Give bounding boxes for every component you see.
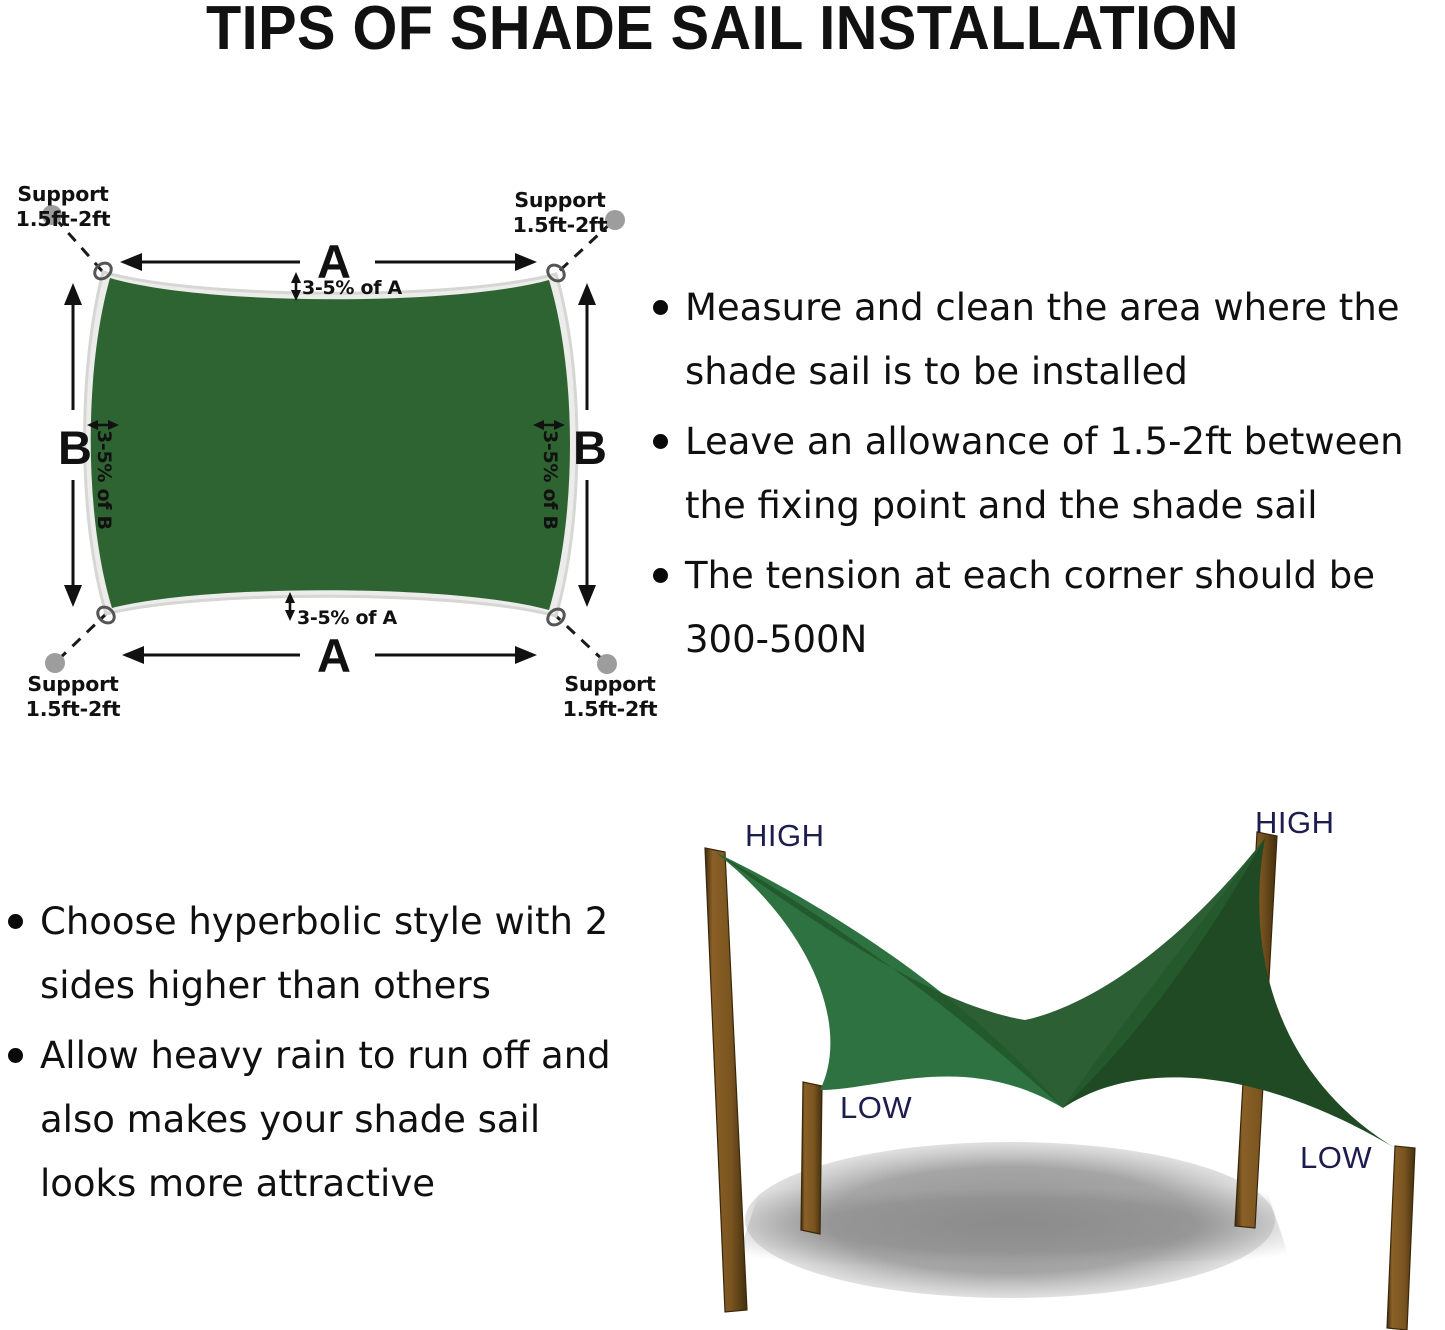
post-low-right — [1387, 1146, 1415, 1330]
list-item: Leave an allowance of 1.5-2ft between th… — [645, 410, 1445, 538]
list-item-text: The tension at each corner should be 300… — [685, 554, 1375, 661]
dimension-label-a-bottom: A — [317, 632, 351, 679]
hyperbolic-sail-diagram — [665, 790, 1445, 1330]
label-low-left: LOW — [840, 1090, 912, 1126]
curvature-label-top: 3-5% of A — [302, 277, 402, 299]
bullet-dot-icon — [8, 914, 23, 929]
list-item: Allow heavy rain to run off and also mak… — [0, 1024, 620, 1216]
support-label-top-right: Support 1.5ft-2ft — [505, 188, 615, 238]
installation-tips-right-list: Measure and clean the area where the sha… — [645, 276, 1445, 678]
bullet-dot-icon — [653, 568, 668, 583]
curvature-label-left: 3-5% of B — [93, 430, 115, 530]
list-item: Measure and clean the area where the sha… — [645, 276, 1445, 404]
sail-panel-left — [715, 852, 1063, 1108]
list-item-text: Leave an allowance of 1.5-2ft between th… — [685, 420, 1404, 527]
support-label-top-left: Support 1.5ft-2ft — [8, 182, 118, 232]
support-label-bottom-right: Support 1.5ft-2ft — [555, 672, 665, 722]
list-item: The tension at each corner should be 300… — [645, 544, 1445, 672]
bullet-dot-icon — [653, 434, 668, 449]
list-item-text: Measure and clean the area where the sha… — [685, 286, 1400, 393]
sail-fabric — [91, 278, 570, 610]
dimension-label-b-left: B — [58, 424, 92, 471]
bullet-dot-icon — [8, 1048, 23, 1063]
support-label-bottom-left: Support 1.5ft-2ft — [18, 672, 128, 722]
label-high-left: HIGH — [745, 818, 825, 854]
list-item-text: Choose hyperbolic style with 2 sides hig… — [40, 900, 608, 1007]
post-low-left — [801, 1082, 822, 1234]
curvature-label-right: 3-5% of B — [539, 430, 561, 530]
dimension-label-b-right: B — [573, 424, 607, 471]
list-item-text: Allow heavy rain to run off and also mak… — [40, 1034, 611, 1205]
label-high-right: HIGH — [1255, 805, 1335, 841]
list-item: Choose hyperbolic style with 2 sides hig… — [0, 890, 620, 1018]
label-low-right: LOW — [1300, 1140, 1372, 1176]
post-high-left — [705, 848, 747, 1312]
curvature-label-bottom: 3-5% of A — [297, 607, 397, 629]
installation-tips-left-list: Choose hyperbolic style with 2 sides hig… — [0, 890, 620, 1222]
bullet-dot-icon — [653, 300, 668, 315]
